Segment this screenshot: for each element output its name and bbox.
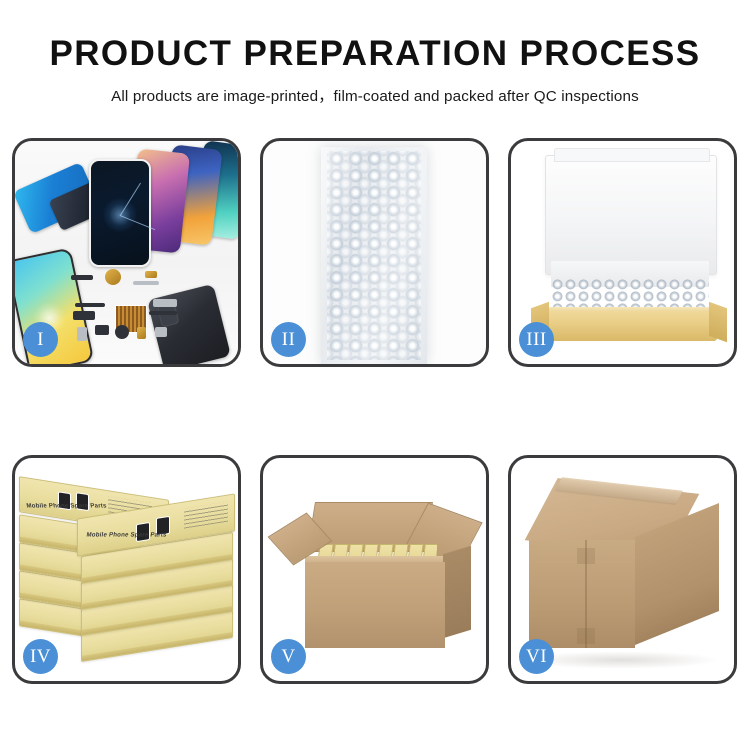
step-panel-2[interactable]: II <box>260 138 489 367</box>
step-panel-5[interactable]: V <box>260 455 489 684</box>
battery-connector-part-icon <box>153 299 177 307</box>
front-glass-panel-icon <box>89 159 151 267</box>
vibrator-part-icon <box>95 325 109 335</box>
retail-box-label: Mobile Phone Spare Parts <box>26 503 107 510</box>
speaker-mesh-part-icon <box>71 275 93 280</box>
speaker-part-icon <box>115 325 129 339</box>
flex-cable-part-icon <box>133 281 159 285</box>
step-badge-1: I <box>23 322 58 357</box>
step-badge-3: III <box>519 322 554 357</box>
spare-parts-group <box>71 269 203 355</box>
retail-box-label: Mobile Phone Spare Parts <box>86 532 167 539</box>
carton-flap-tab-icon <box>577 548 595 564</box>
mailer-lid-icon <box>545 155 717 275</box>
step-panel-4[interactable]: Mobile Phone Spare Parts Mobile Phone Sp… <box>12 455 241 684</box>
page-subtitle: All products are image-printed，film-coat… <box>0 73 750 106</box>
plastic-sheen-icon <box>321 147 427 364</box>
antenna-cable-part-icon <box>149 311 177 315</box>
page-header: PRODUCT PREPARATION PROCESS All products… <box>0 0 750 106</box>
bubble-wrap-pouch-icon <box>321 147 427 364</box>
carton-flap-tab-icon <box>577 628 595 644</box>
process-steps-grid: I II III <box>12 138 738 684</box>
gold-coil-part-icon <box>105 269 121 285</box>
carton-front-panel-icon <box>529 540 635 648</box>
gold-connector-part-icon <box>145 271 157 278</box>
step-badge-4: IV <box>23 639 58 674</box>
step-panel-6[interactable]: VI <box>508 455 737 684</box>
step-badge-5: V <box>271 639 306 674</box>
step-badge-2: II <box>271 322 306 357</box>
carton-side-panel-icon <box>443 546 471 639</box>
carton-front-panel-icon <box>305 562 445 648</box>
sim-tray-part-icon <box>77 327 87 341</box>
spec-text-lines-icon <box>184 502 228 529</box>
crack-pattern-icon <box>100 195 140 235</box>
kraft-mailer-box-icon <box>541 311 717 341</box>
camera-part-icon <box>155 327 167 337</box>
page-title: PRODUCT PREPARATION PROCESS <box>0 0 750 73</box>
step-panel-3[interactable]: III <box>508 138 737 367</box>
connector-part-icon <box>73 311 95 320</box>
step-badge-6: VI <box>519 639 554 674</box>
step-panel-1[interactable]: I <box>12 138 241 367</box>
flex-cable-part-icon <box>75 303 105 307</box>
gold-screw-part-icon <box>137 327 146 339</box>
